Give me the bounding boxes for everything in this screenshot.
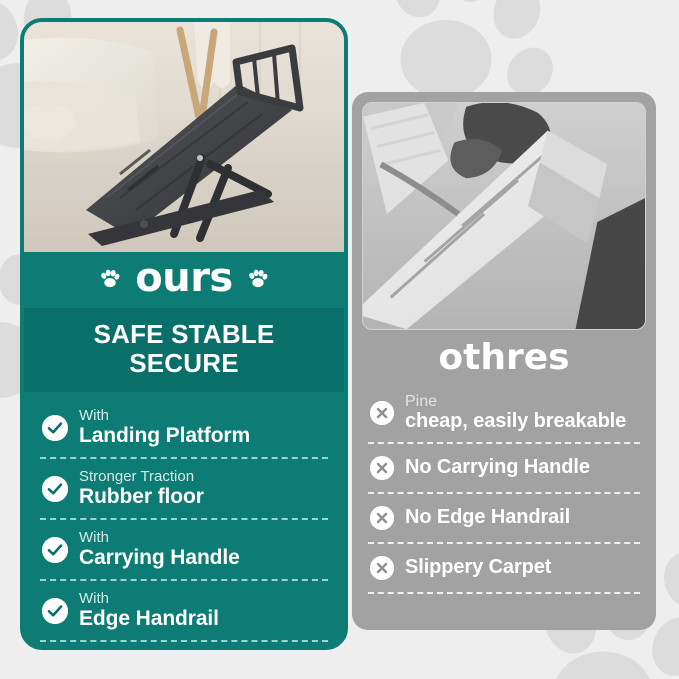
x-circle-icon	[370, 556, 394, 580]
x-circle-icon	[370, 456, 394, 480]
others-product-photo	[362, 102, 646, 330]
paw-print-icon	[247, 267, 269, 289]
others-brand-name: othres	[362, 330, 646, 384]
check-circle-icon	[42, 476, 68, 502]
ours-tagline: SAFE STABLE SECURE	[24, 308, 344, 392]
check-circle-icon	[42, 598, 68, 624]
list-item: No Carrying Handle	[368, 444, 640, 494]
list-item: With Landing Platform	[40, 398, 328, 459]
list-item-sublabel: Stronger Traction	[79, 469, 204, 485]
list-item: Pine cheap, easily breakable	[368, 384, 640, 444]
list-item-label: Rubber floor	[79, 486, 204, 509]
list-item: With Edge Handrail	[40, 581, 328, 642]
paw-print-icon	[99, 267, 121, 289]
list-item-label: cheap, easily breakable	[405, 411, 626, 433]
list-item-label: No Edge Handrail	[405, 507, 570, 529]
list-item-label: No Carrying Handle	[405, 457, 590, 479]
check-circle-icon	[42, 537, 68, 563]
list-item: No Edge Handrail	[368, 494, 640, 544]
list-item: With Carrying Handle	[40, 520, 328, 581]
x-circle-icon	[370, 506, 394, 530]
ours-brand-name: ours	[135, 258, 233, 298]
ours-feature-list: With Landing Platform Stronger Traction …	[24, 392, 344, 646]
list-item-label: Carrying Handle	[79, 547, 240, 570]
tagline-line-2: SECURE	[34, 349, 334, 378]
list-item-label: Slippery Carpet	[405, 557, 551, 579]
list-item-sublabel: With	[79, 530, 240, 546]
ours-comparison-panel: ours SAFE STABLE SECURE With	[20, 18, 348, 650]
list-item: Stronger Traction Rubber floor	[40, 459, 328, 520]
list-item: Slippery Carpet	[368, 544, 640, 594]
list-item-sublabel: With	[79, 408, 250, 424]
others-comparison-panel: othres Pine cheap, easily breakable	[352, 92, 656, 630]
list-item-sublabel: Pine	[405, 393, 626, 410]
ours-product-photo	[24, 22, 344, 252]
check-circle-icon	[42, 415, 68, 441]
others-drawback-list: Pine cheap, easily breakable No Carrying…	[362, 384, 646, 630]
x-circle-icon	[370, 401, 394, 425]
list-item-label: Landing Platform	[79, 425, 250, 448]
list-item-sublabel: With	[79, 591, 219, 607]
tagline-line-1: SAFE STABLE	[34, 320, 334, 349]
ours-brand-bar: ours	[24, 252, 344, 308]
list-item-label: Edge Handrail	[79, 608, 219, 631]
